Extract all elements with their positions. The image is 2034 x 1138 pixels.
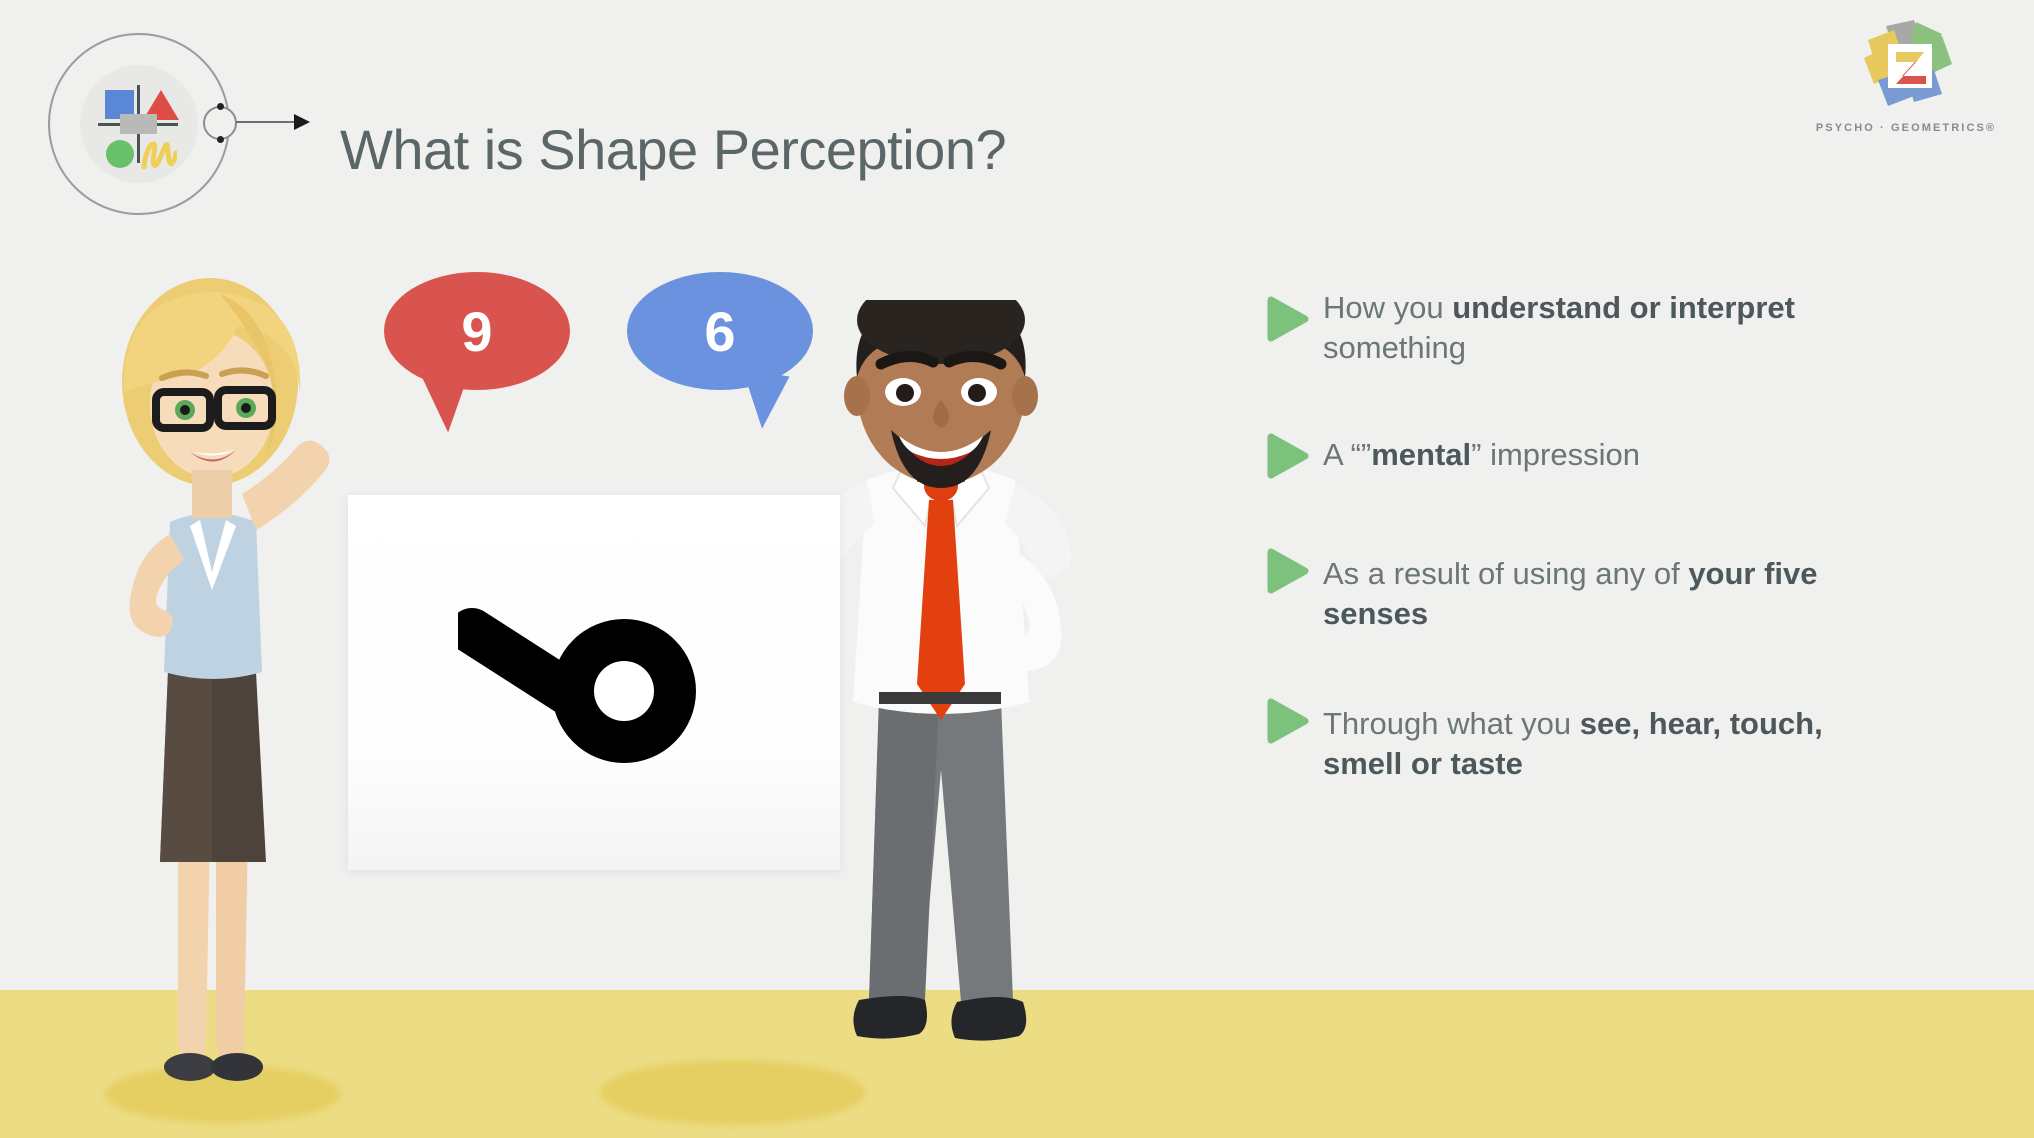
ambiguous-nine-six-glyph (458, 595, 718, 785)
connector-line (236, 121, 298, 123)
speech-bubble-nine-label: 9 (461, 299, 492, 364)
yellow-squiggle-icon (141, 137, 177, 171)
bullet-part-bold: understand or interpret (1452, 290, 1795, 325)
connector-node (203, 106, 237, 140)
bullet-list: How you understand or interpret somethin… (1265, 288, 1965, 785)
bullet-mental-impression: A “”mental” impression (1265, 425, 1965, 484)
bullet-part: How you (1323, 290, 1452, 325)
slide-canvas: What is Shape Perception? PSYCHO · GEOME… (0, 0, 2034, 1138)
brand-wordmark: PSYCHO · GEOMETRICS® (1806, 122, 2006, 134)
brand-logo: PSYCHO · GEOMETRICS® (1806, 18, 2006, 143)
gray-rectangle-icon (120, 114, 157, 134)
bullet-marker-icon (1265, 296, 1323, 347)
bullet-text: Through what you see, hear, touch, smell… (1323, 704, 1843, 785)
bullet-part: Through what you (1323, 706, 1580, 741)
bullet-text: How you understand or interpret somethin… (1323, 288, 1843, 369)
bullet-marker-icon (1265, 698, 1323, 749)
bullet-part: A “” (1323, 437, 1371, 472)
bullet-marker-icon (1265, 548, 1323, 599)
held-sign (348, 495, 840, 870)
green-circle-icon (106, 140, 134, 168)
bullet-understand-interpret: How you understand or interpret somethin… (1265, 288, 1965, 369)
speech-bubble-nine: 9 (384, 272, 570, 390)
bullet-text: A “”mental” impression (1323, 435, 1640, 475)
bullet-part: ” impression (1471, 437, 1640, 472)
bullet-part: something (1323, 330, 1466, 365)
bullet-see-hear-touch: Through what you see, hear, touch, smell… (1265, 690, 1965, 785)
bullet-part-bold: mental (1371, 437, 1471, 472)
bullet-part: As a result of using any of (1323, 556, 1688, 591)
psycho-geometrics-mark-icon (1856, 18, 1961, 116)
bullet-marker-icon (1265, 433, 1323, 484)
woman-character (70, 272, 340, 1102)
arrow-head-icon (294, 114, 310, 130)
speech-bubble-six-label: 6 (704, 299, 735, 364)
page-title: What is Shape Perception? (340, 122, 1006, 178)
bullet-text: As a result of using any of your five se… (1323, 554, 1843, 635)
bullet-five-senses: As a result of using any of your five se… (1265, 540, 1965, 635)
